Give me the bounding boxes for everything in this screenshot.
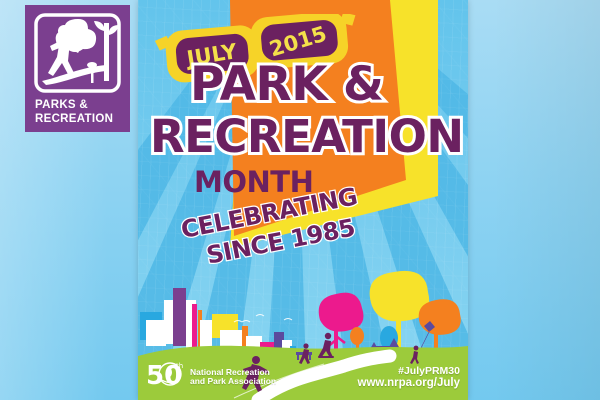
- poster-tagline: CELEBRATING SINCE 1985: [138, 170, 468, 280]
- screenshot-root: JULY 2015 PARK & RECREATION MONTH CELEBR…: [0, 0, 600, 400]
- birds: [234, 315, 292, 323]
- badge-caption-line2: RECREATION: [35, 113, 127, 127]
- nrpa-org-name: National Recreation and Park Association: [190, 368, 276, 387]
- headline-line1: PARK &: [190, 57, 383, 112]
- badge-caption-line1: PARKS &: [35, 99, 127, 113]
- park-and-recreation-month-poster: JULY 2015 PARK & RECREATION MONTH CELEBR…: [138, 0, 468, 400]
- poster-url-block: #JulyPRM30 www.nrpa.org/July: [358, 365, 460, 390]
- nrpa-50th-anniversary-logo: 50 th: [146, 358, 188, 392]
- website-url-text: www.nrpa.org/July: [358, 377, 460, 390]
- hashtag-text: #JulyPRM30: [358, 365, 460, 377]
- badge-caption: PARKS & RECREATION: [35, 99, 127, 126]
- poster-footer: 50 th National Recreation and Park Assoc…: [138, 348, 468, 400]
- headline-line2: RECREATION: [150, 110, 464, 163]
- parks-and-recreation-badge: PARKS & RECREATION: [25, 5, 130, 132]
- hiker-tree-icon: [34, 13, 121, 93]
- nrpa-org-line2: and Park Association: [190, 377, 276, 387]
